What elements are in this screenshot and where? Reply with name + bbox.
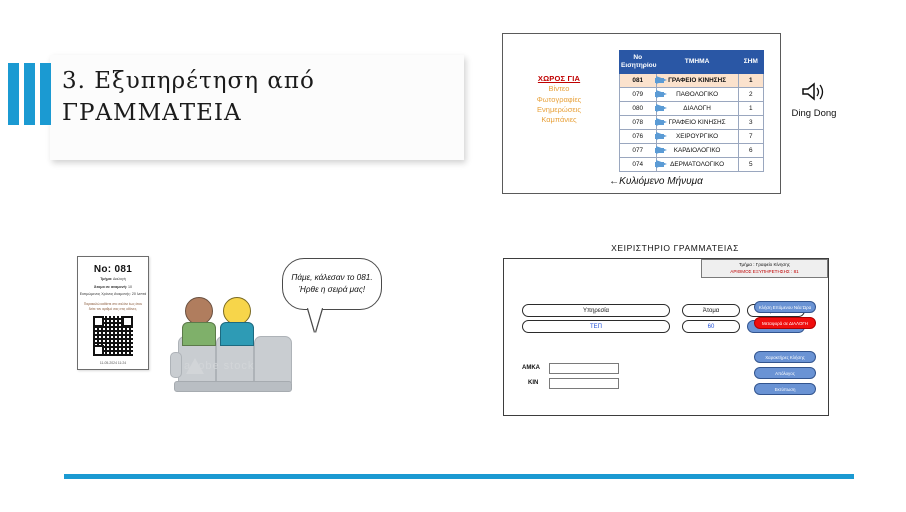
field-value-people[interactable]: 60: [682, 320, 740, 333]
person-body: [182, 322, 216, 346]
ticket-waiting-label: Άτομα σε αναμονή:: [94, 285, 127, 289]
cell-ticket-no: 080: [620, 101, 657, 115]
cell-sign: 1: [738, 101, 763, 115]
speech-bubble: Πάμε, κάλεσαν το 081. Ήρθε η σειρά μας!: [282, 258, 382, 310]
waiting-people-illustration: adobe stock: [170, 282, 290, 392]
pointer-arrow-icon: [656, 146, 667, 154]
cell-ticket-no: 074: [620, 157, 657, 171]
table-row: 076 ΧΕΙΡΟΥΡΓΙΚΟ 7: [620, 129, 764, 143]
label-amka: ΑΜΚΑ: [522, 365, 540, 371]
page-title: 3. Εξυπηρέτηση από ΓΡΑΜΜΑΤΕΙΑ: [62, 66, 462, 129]
bottom-accent-line: [64, 474, 854, 479]
person-body: [220, 322, 254, 346]
queue-table-body: 081 ΓΡΑΦΕΙΟ ΚΙΝΗΣΗΣ 1 079 ΠΑΘΟΛΟΓΙΚΟ 2 0…: [620, 73, 764, 171]
pointer-arrow-icon: [656, 160, 667, 168]
cell-department: ΔΕΡΜΑΤΟΛΟΓΙΚΟ: [656, 157, 738, 171]
ticket-waiting-value: 10: [128, 285, 132, 289]
column-header-sign: ΣΗΜ: [738, 51, 763, 74]
sound-indicator: Ding Dong: [784, 82, 844, 119]
table-row: 079 ΠΑΘΟΛΟΓΙΚΟ 2: [620, 87, 764, 101]
department-info-box: Τμήμα : Γραφείο Κίνησης ΑΡΙΘΜΟΣ ΕΞΥΠΗΡΕΤ…: [701, 259, 828, 278]
person-seated: [182, 297, 216, 346]
person-head: [223, 297, 251, 325]
transfer-button[interactable]: Μεταφορά σε ΔΙΑΛΟΓΗ: [754, 317, 816, 329]
qr-code-icon: [93, 316, 133, 356]
table-row: 078 ΓΡΑΦΕΙΟ ΚΙΝΗΣΗΣ 3: [620, 115, 764, 129]
promo-heading: ΧΩΡΟΣ ΓΙΑ: [519, 74, 599, 84]
ticket-dept-line: Τμήμα: Διαλογή: [78, 277, 148, 283]
ticket-dept-value: Διαλογή: [113, 277, 126, 281]
cell-ticket-no: 077: [620, 143, 657, 157]
queue-display-panel: ΧΩΡΟΣ ΓΙΑ Βίντεο Φωτογραφίες Ενημερώσεις…: [502, 33, 781, 194]
ticket-note: Παρακαλώ καθίστε στο σαλόνι έως ότου δεί…: [82, 302, 144, 312]
cell-department: ΚΑΡΔΙΟΛΟΓΙΚΟ: [656, 143, 738, 157]
service-number-line: ΑΡΙΘΜΟΣ ΕΞΥΠΗΡΕΤΗΣΗΣ : 81: [702, 269, 827, 276]
accent-bar: [24, 63, 35, 125]
kin-input[interactable]: [549, 378, 619, 389]
cell-ticket-no: 081: [620, 73, 657, 87]
table-row: 074 ΔΕΡΜΑΤΟΛΟΓΙΚΟ 5: [620, 157, 764, 171]
table-row: 081 ΓΡΑΦΕΙΟ ΚΙΝΗΣΗΣ 1: [620, 73, 764, 87]
table-header-row: No Εισητηρίου ΤΜΗΜΑ ΣΗΜ: [620, 51, 764, 74]
ticket-number: No: 081: [78, 264, 148, 275]
pointer-arrow-icon: [656, 90, 667, 98]
cell-ticket-no: 079: [620, 87, 657, 101]
ticket-timestamp: 11-05-2024 11:24: [78, 361, 148, 365]
department-line: Τμήμα : Γραφείο Κίνησης: [702, 262, 827, 269]
speaker-icon: [801, 82, 827, 102]
promo-line: Καμπάνιες: [519, 115, 599, 125]
pointer-arrow-icon: [656, 132, 667, 140]
ticket-waiting-line: Άτομα σε αναμονή: 10: [78, 285, 148, 291]
call-next-button[interactable]: Κλήση Επόμενου Νέα Ώρα: [754, 301, 816, 313]
field-label-people: Άτομα: [682, 304, 740, 317]
ticket-eta: Εκτιμώμενος Χρόνος Αναμονής: 20 λεπτά: [78, 292, 148, 298]
field-value-service[interactable]: ΤΕΠ: [522, 320, 670, 333]
cell-ticket-no: 078: [620, 115, 657, 129]
cell-department: ΔΙΑΛΟΓΗ: [656, 101, 738, 115]
ticket-dept-label: Τμήμα:: [100, 277, 112, 281]
armrest: [170, 352, 182, 378]
table-row: 077 ΚΑΡΔΙΟΛΟΓΙΚΟ 6: [620, 143, 764, 157]
accent-bar: [8, 63, 19, 125]
call-characters-button[interactable]: Χαρακτήρες Κλήσης: [754, 351, 816, 363]
operator-panel: Τμήμα : Γραφείο Κίνησης ΑΡΙΘΜΟΣ ΕΞΥΠΗΡΕΤ…: [503, 258, 829, 416]
table-row: 080 ΔΙΑΛΟΓΗ 1: [620, 101, 764, 115]
cell-sign: 2: [738, 87, 763, 101]
column-header-ticket-no: No Εισητηρίου: [620, 51, 657, 74]
promo-line: Ενημερώσεις: [519, 105, 599, 115]
cell-department: ΧΕΙΡΟΥΡΓΙΚΟ: [656, 129, 738, 143]
sound-label: Ding Dong: [784, 108, 844, 119]
log-button[interactable]: Απόλογος: [754, 367, 816, 379]
seat: [254, 336, 292, 384]
person-head: [185, 297, 213, 325]
cell-sign: 6: [738, 143, 763, 157]
promo-line: Βίντεο: [519, 84, 599, 94]
field-label-service: Υπηρεσία: [522, 304, 670, 317]
promo-area: ΧΩΡΟΣ ΓΙΑ Βίντεο Φωτογραφίες Ενημερώσεις…: [519, 74, 599, 126]
print-button[interactable]: Εκτύπωση: [754, 383, 816, 395]
accent-bar: [40, 63, 51, 125]
speech-bubble-tail: [308, 308, 322, 332]
promo-line: Φωτογραφίες: [519, 95, 599, 105]
queue-table: No Εισητηρίου ΤΜΗΜΑ ΣΗΜ 081 ΓΡΑΦΕΙΟ ΚΙΝΗ…: [619, 50, 764, 172]
title-accent-bars: [8, 63, 64, 125]
person-seated: [220, 297, 254, 346]
cell-sign: 1: [738, 73, 763, 87]
pointer-arrow-icon: [656, 76, 667, 84]
cell-department: ΓΡΑΦΕΙΟ ΚΙΝΗΣΗΣ: [656, 115, 738, 129]
cell-sign: 7: [738, 129, 763, 143]
pointer-arrow-icon: [656, 104, 667, 112]
column-header-department: ΤΜΗΜΑ: [656, 51, 738, 74]
cell-department: ΠΑΘΟΛΟΓΙΚΟ: [656, 87, 738, 101]
pointer-arrow-icon: [656, 118, 667, 126]
cell-ticket-no: 076: [620, 129, 657, 143]
amka-input[interactable]: [549, 363, 619, 374]
slide-canvas: 3. Εξυπηρέτηση από ΓΡΑΜΜΑΤΕΙΑ ΧΩΡΟΣ ΓΙΑ …: [0, 0, 906, 512]
watermark-label: adobe stock: [184, 360, 254, 372]
scrolling-message: ←Κυλιόμενο Μήνυμα: [561, 176, 751, 187]
cell-sign: 5: [738, 157, 763, 171]
seat-base: [174, 381, 292, 392]
cell-department: ΓΡΑΦΕΙΟ ΚΙΝΗΣΗΣ: [656, 73, 738, 87]
label-kin: ΚΙΝ: [528, 380, 538, 386]
operator-panel-title: ΧΕΙΡΙΣΤΗΡΙΟ ΓΡΑΜΜΑΤΕΙΑΣ: [595, 243, 755, 253]
cell-sign: 3: [738, 115, 763, 129]
printed-ticket: No: 081 Τμήμα: Διαλογή Άτομα σε αναμονή:…: [77, 256, 149, 370]
